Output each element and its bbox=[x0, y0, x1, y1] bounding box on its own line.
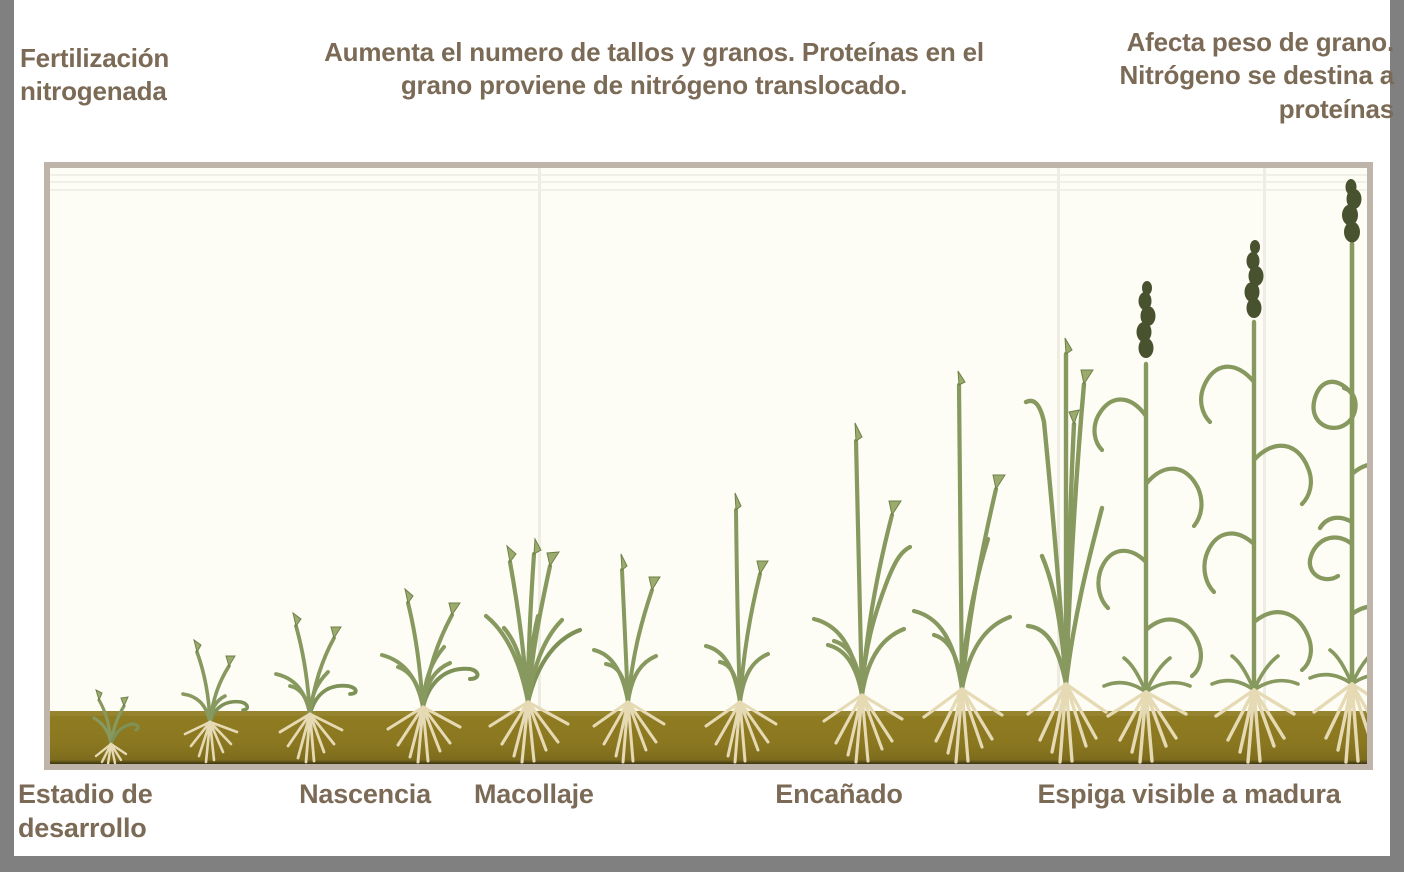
caption-peso-grano-proteinas: Afecta peso de grano. Nitrógeno se desti… bbox=[1004, 26, 1394, 126]
stage-label-macollaje: Macollaje bbox=[474, 778, 674, 812]
plant-nascencia-2 bbox=[155, 604, 265, 764]
growth-stage-illustration-panel bbox=[44, 162, 1373, 770]
panel-canvas bbox=[50, 168, 1367, 764]
stage-label-encanado: Encañado bbox=[714, 778, 964, 812]
plant-nascencia-3 bbox=[250, 574, 370, 764]
frame-bar-right bbox=[1390, 0, 1404, 872]
caption-fertilizacion-nitrogenada: Fertilización nitrogenada bbox=[20, 42, 320, 109]
plant-row bbox=[50, 168, 1367, 764]
caption-tallos-granos-proteinas: Aumenta el numero de tallos y granos. Pr… bbox=[314, 36, 994, 103]
stage-label-estadio-de-desarrollo: Estadio de desarrollo bbox=[18, 778, 268, 846]
frame-bar-bottom bbox=[0, 856, 1404, 872]
stage-label-band: Estadio de desarrollo Nascencia Macollaj… bbox=[14, 772, 1390, 856]
plant-nascencia-1 bbox=[66, 644, 156, 764]
plant-encanado-1 bbox=[568, 534, 688, 764]
wheat-spike bbox=[1342, 179, 1362, 243]
plant-madura bbox=[1288, 184, 1373, 764]
slide-root: Fertilización nitrogenada Aumenta el num… bbox=[0, 0, 1404, 872]
header-caption-band: Fertilización nitrogenada Aumenta el num… bbox=[14, 0, 1390, 160]
stage-label-nascencia: Nascencia bbox=[270, 778, 460, 812]
wheat-spike bbox=[1245, 240, 1264, 318]
wheat-spike bbox=[1137, 281, 1156, 358]
stage-label-espiga-visible-a-madura: Espiga visible a madura bbox=[1024, 778, 1354, 812]
plant-encanado-2 bbox=[680, 484, 800, 764]
frame-bar-left bbox=[0, 0, 14, 872]
